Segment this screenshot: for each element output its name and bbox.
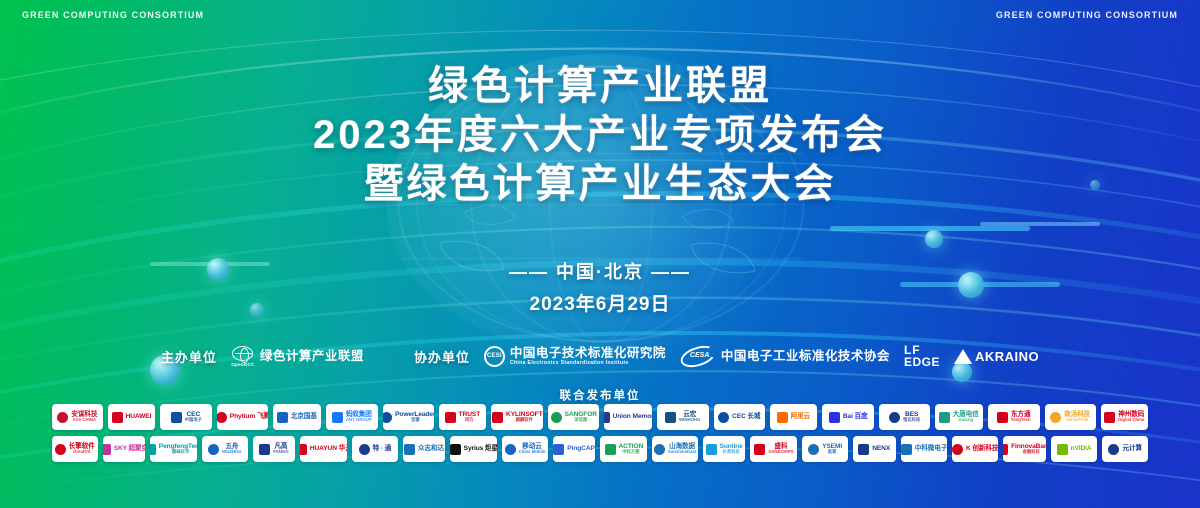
- partner-logo-card: Union Memory: [604, 404, 652, 430]
- opengcc-logo-icon: OpenGCC: [231, 346, 255, 366]
- partner-logo-card: 元计算: [1102, 436, 1147, 462]
- partner-logo-mark-icon: [208, 444, 219, 455]
- partner-logo-card: 盛科SANECHIPS: [750, 436, 797, 462]
- cesi-name-cn: 中国电子技术标准化研究院: [510, 346, 666, 360]
- partner-logo-mark-icon: [553, 444, 564, 455]
- partner-logo-label: 特 · 通: [373, 445, 392, 452]
- coorganizer-cesa: CESA 中国电子工业标准化技术协会: [680, 347, 890, 366]
- partner-logo-label: Union Memory: [613, 413, 652, 420]
- partner-logo-mark-icon: [217, 412, 226, 423]
- partner-logo-sublabel: SANECHIPS: [768, 450, 793, 455]
- partner-logo-mark-icon: [706, 444, 717, 455]
- partner-logo-label: Phytium 飞腾: [230, 413, 268, 420]
- partner-logo-mark-icon: [654, 444, 665, 455]
- partner-logo-sublabel: Arm CHINA: [71, 418, 97, 423]
- partner-logo-mark-icon: [777, 412, 788, 423]
- partner-logo-row-1: 安谋科技Arm CHINAHUAWEICEC中国电子Phytium 飞腾北京国基…: [52, 404, 1148, 430]
- partner-logo-mark-icon: [445, 412, 456, 423]
- coorganizer-label: 协办单位: [414, 347, 470, 366]
- partner-logo-sublabel: FANGO: [273, 450, 288, 455]
- partner-logo-mark-icon: [1104, 412, 1115, 423]
- partner-logo-label: PingCAP: [567, 445, 595, 452]
- partner-logo-mark-icon: [55, 444, 66, 455]
- partner-logo-card: 大唐电信Datang: [935, 404, 983, 430]
- partner-logo-sublabel: SenseTime: [1064, 418, 1090, 423]
- partner-logo-mark-icon: [604, 412, 609, 423]
- partner-logo-card: 东方通TongTech: [988, 404, 1040, 430]
- partner-logo-mark-icon: [1003, 444, 1008, 455]
- partner-logo-card: PingCAP: [553, 436, 596, 462]
- partner-logo-card: 蚂蚁集团ANT GROUP: [326, 404, 378, 430]
- partner-logo-label: HUAYUN 华云: [310, 445, 347, 452]
- partner-logo-label: 五舟WUZHOU: [222, 443, 241, 455]
- partner-logo-label: 中科微电子: [915, 445, 947, 452]
- partner-logo-card: YSEMI盈寰: [802, 436, 847, 462]
- partner-logo-sublabel: WINHONG: [679, 418, 700, 423]
- partner-logo-card: CEC中国电子: [160, 404, 212, 430]
- event-location: —— 中国·北京 ——: [0, 258, 1200, 284]
- partner-logo-mark-icon: [277, 412, 288, 423]
- partner-logo-mark-icon: [300, 444, 307, 455]
- partner-logo-mark-icon: [858, 444, 869, 455]
- partner-logo-mark-icon: [718, 412, 729, 423]
- partner-logo-sublabel: 麒麟软件: [506, 418, 542, 423]
- bubble-decoration: [925, 230, 943, 248]
- partner-logo-label: 东方通TongTech: [1011, 411, 1031, 423]
- partner-logo-mark-icon: [889, 412, 900, 423]
- partner-logo-label: 阿里云: [791, 413, 810, 420]
- coorganizer-lfedge: LF EDGE: [904, 344, 940, 368]
- partner-logo-card: Syrius 炬星: [450, 436, 497, 462]
- partner-logo-label: SKY 超聚变: [114, 445, 146, 452]
- partner-logo-label: 移动云China Mobile: [519, 443, 546, 455]
- partner-logo-sublabel: SunshineData: [668, 450, 697, 455]
- partner-logo-sublabel: GreatOS: [69, 450, 95, 455]
- partner-logo-label: 商汤科技SenseTime: [1064, 411, 1090, 423]
- partner-logo-mark-icon: [952, 444, 963, 455]
- partner-logo-label: HUAWEI: [126, 413, 152, 420]
- partner-logo-label: TRUST同方: [459, 411, 480, 423]
- partner-logo-label: 长擎软件GreatOS: [69, 443, 95, 455]
- partner-logo-sublabel: 中国电子: [185, 418, 202, 423]
- partner-logo-card: 商汤科技SenseTime: [1045, 404, 1096, 430]
- partner-logo-mark-icon: [551, 412, 562, 423]
- cesi-name-en: China Electronics Standardization Instit…: [510, 360, 666, 366]
- partner-logo-label: 北京国基: [291, 413, 317, 420]
- partner-logo-mark-icon: [359, 444, 370, 455]
- partner-logo-mark-icon: [450, 444, 460, 455]
- partner-logo-mark-icon: [332, 412, 343, 423]
- partner-logo-label: NENX: [872, 445, 890, 452]
- partner-logo-label: 元计算: [1122, 445, 1141, 452]
- partner-logo-card: 山海数据SunshineData: [652, 436, 697, 462]
- partner-logo-card: PengfengTech鹏峰技术: [150, 436, 197, 462]
- title-line-2: 2023年度六大产业专项发布会: [0, 111, 1200, 160]
- partner-logo-label: Bai 百度: [843, 413, 868, 420]
- partner-logo-sublabel: 恒玄科技: [903, 418, 920, 423]
- partner-logo-mark-icon: [605, 444, 616, 455]
- cesa-logo-icon: CESA: [680, 347, 716, 366]
- partner-logo-sublabel: ANT GROUP: [346, 418, 372, 423]
- partner-logo-sublabel: Datang: [953, 418, 979, 423]
- partner-logo-card: Bai 百度: [822, 404, 874, 430]
- partner-logo-mark-icon: [939, 412, 950, 423]
- partner-logo-label: 盛科SANECHIPS: [768, 443, 793, 455]
- event-poster: GREEN COMPUTING CONSORTIUM GREEN COMPUTI…: [0, 0, 1200, 508]
- partner-logo-card: 北京国基: [273, 404, 321, 430]
- partner-logo-sublabel: 中科方德: [619, 450, 644, 455]
- partner-logo-label: PengfengTech鹏峰技术: [159, 443, 197, 455]
- partner-logo-label: 安谋科技Arm CHINA: [71, 411, 97, 423]
- partner-logo-label: ACTION中科方德: [619, 443, 644, 455]
- lf-edge-logo-icon: LF EDGE: [904, 344, 940, 368]
- partner-logo-mark-icon: [505, 444, 516, 455]
- partner-logo-card: TRUST同方: [439, 404, 487, 430]
- cesa-name-cn: 中国电子工业标准化技术协会: [721, 349, 890, 363]
- eyebrow-right: GREEN COMPUTING CONSORTIUM: [996, 10, 1178, 20]
- partner-logo-card: NENX: [853, 436, 896, 462]
- host-organization: OpenGCC 绿色计算产业联盟: [231, 346, 364, 366]
- partner-logo-label: Sunline长亮科技: [720, 443, 743, 455]
- partner-logo-card: 五舟WUZHOU: [202, 436, 247, 462]
- partner-logo-card: HUAYUN 华云: [300, 436, 347, 462]
- cesi-logo-icon: CESI: [484, 346, 505, 367]
- partner-logo-mark-icon: [171, 412, 182, 423]
- partner-logo-card: 众志和达: [403, 436, 446, 462]
- partner-logo-card: FinnovaBank金融科技: [1003, 436, 1046, 462]
- partner-logo-mark-icon: [665, 412, 676, 423]
- partner-logo-mark-icon: [754, 444, 765, 455]
- partner-logo-card: KYLINSOFT麒麟软件: [491, 404, 543, 430]
- partner-logo-card: SKY 超聚变: [103, 436, 146, 462]
- partner-logo-label: 众志和达: [418, 445, 444, 452]
- partner-logo-mark-icon: [103, 444, 111, 455]
- partner-logo-mark-icon: [1057, 444, 1068, 455]
- partner-logo-mark-icon: [829, 412, 840, 423]
- coorganizer-akraino: AKRAINO: [954, 349, 1039, 364]
- partner-logo-sublabel: TongTech: [1011, 418, 1031, 423]
- akraino-name: AKRAINO: [975, 349, 1039, 364]
- partner-logo-sublabel: 深信服: [565, 418, 597, 423]
- opengcc-logo-tag: OpenGCC: [231, 362, 255, 367]
- title-line-1: 绿色计算产业联盟: [0, 62, 1200, 111]
- partner-logo-label: CEC 长城: [732, 413, 760, 420]
- eyebrow-left: GREEN COMPUTING CONSORTIUM: [22, 10, 204, 20]
- partner-logo-card: Phytium 飞腾: [217, 404, 268, 430]
- partner-logo-mark-icon: [1050, 412, 1061, 423]
- partner-logo-card: ACTION中科方德: [600, 436, 647, 462]
- partner-logo-card: PowerLeader宝德: [383, 404, 434, 430]
- partner-logo-mark-icon: [259, 444, 270, 455]
- event-subtitle: —— 中国·北京 —— 2023年6月29日: [0, 258, 1200, 316]
- partner-logo-card: nVIDIA: [1051, 436, 1098, 462]
- partner-logo-card: 特 · 通: [352, 436, 397, 462]
- partner-logo-card: Sunline长亮科技: [703, 436, 746, 462]
- partner-logo-label: 神州数码Digital China: [1118, 411, 1144, 423]
- title-line-3: 暨绿色计算产业生态大会: [0, 160, 1200, 209]
- partner-logo-card: 长擎软件GreatOS: [52, 436, 97, 462]
- organizer-row: 主办单位 OpenGCC 绿色计算产业联盟 协办单位 CESI 中国电子技术标准…: [0, 344, 1200, 368]
- partner-logo-label: BES恒玄科技: [903, 411, 920, 423]
- partner-logo-mark-icon: [404, 444, 415, 455]
- partner-logo-label: K 创新科技: [966, 445, 998, 452]
- partner-logo-sublabel: 金融科技: [1011, 450, 1046, 455]
- partner-logo-card: 中科微电子: [901, 436, 948, 462]
- partner-logo-label: YSEMI盈寰: [822, 443, 842, 455]
- partner-logo-sublabel: 长亮科技: [720, 450, 743, 455]
- partner-logo-grid: 安谋科技Arm CHINAHUAWEICEC中国电子Phytium 飞腾北京国基…: [52, 404, 1148, 468]
- partner-logo-sublabel: 鹏峰技术: [159, 450, 197, 455]
- partner-logo-sublabel: China Mobile: [519, 450, 546, 455]
- partner-logo-label: 蚂蚁集团ANT GROUP: [346, 411, 372, 423]
- partner-logo-label: 云宏WINHONG: [679, 411, 700, 423]
- partner-logo-card: 移动云China Mobile: [502, 436, 547, 462]
- host-name: 绿色计算产业联盟: [260, 349, 364, 363]
- partner-logo-card: HUAWEI: [108, 404, 156, 430]
- partner-logo-label: nVIDIA: [1071, 445, 1092, 452]
- partner-logo-mark-icon: [808, 444, 819, 455]
- host-label: 主办单位: [161, 347, 217, 366]
- partner-logo-label: SANGFOR深信服: [565, 411, 597, 423]
- akraino-logo-icon: [954, 349, 972, 364]
- partner-logo-mark-icon: [112, 412, 123, 423]
- partner-logo-card: 安谋科技Arm CHINA: [52, 404, 103, 430]
- partner-logo-label: 山海数据SunshineData: [668, 443, 697, 455]
- partner-logo-card: 阿里云: [770, 404, 818, 430]
- partner-logo-mark-icon: [997, 412, 1008, 423]
- partner-logo-card: SANGFOR深信服: [548, 404, 599, 430]
- partner-logo-sublabel: 盈寰: [822, 450, 842, 455]
- partner-logo-mark-icon: [901, 444, 912, 455]
- partner-logo-label: 大唐电信Datang: [953, 411, 979, 423]
- partner-logo-card: 神州数码Digital China: [1101, 404, 1149, 430]
- partner-logo-mark-icon: [57, 412, 68, 423]
- partner-logo-label: 凡高FANGO: [273, 443, 288, 455]
- partner-logo-card: 凡高FANGO: [253, 436, 296, 462]
- event-date: 2023年6月29日: [0, 289, 1200, 316]
- partner-logo-card: BES恒玄科技: [879, 404, 930, 430]
- partner-logo-sublabel: 同方: [459, 418, 480, 423]
- partner-logo-sublabel: Digital China: [1118, 418, 1144, 423]
- partner-logo-label: PowerLeader宝德: [395, 411, 434, 423]
- partner-logo-card: CEC 长城: [714, 404, 765, 430]
- partner-logo-sublabel: 宝德: [395, 418, 434, 423]
- partner-logo-label: FinnovaBank金融科技: [1011, 443, 1046, 455]
- partner-logo-label: Syrius 炬星: [464, 445, 498, 452]
- joint-publisher-title: 联合发布单位: [0, 387, 1200, 403]
- coorganizer-cesi: CESI 中国电子技术标准化研究院 China Electronics Stan…: [484, 346, 666, 367]
- partner-logo-sublabel: WUZHOU: [222, 450, 241, 455]
- partner-logo-card: K 创新科技: [952, 436, 997, 462]
- partner-logo-label: CEC中国电子: [185, 411, 202, 423]
- partner-logo-mark-icon: [150, 444, 156, 455]
- partner-logo-card: 云宏WINHONG: [657, 404, 709, 430]
- partner-logo-mark-icon: [383, 412, 392, 423]
- partner-logo-row-2: 长擎软件GreatOSSKY 超聚变PengfengTech鹏峰技术五舟WUZH…: [52, 436, 1148, 462]
- partner-logo-mark-icon: [492, 412, 503, 423]
- page-title: 绿色计算产业联盟 2023年度六大产业专项发布会 暨绿色计算产业生态大会: [0, 62, 1200, 208]
- partner-logo-mark-icon: [1108, 444, 1119, 455]
- partner-logo-label: KYLINSOFT麒麟软件: [506, 411, 542, 423]
